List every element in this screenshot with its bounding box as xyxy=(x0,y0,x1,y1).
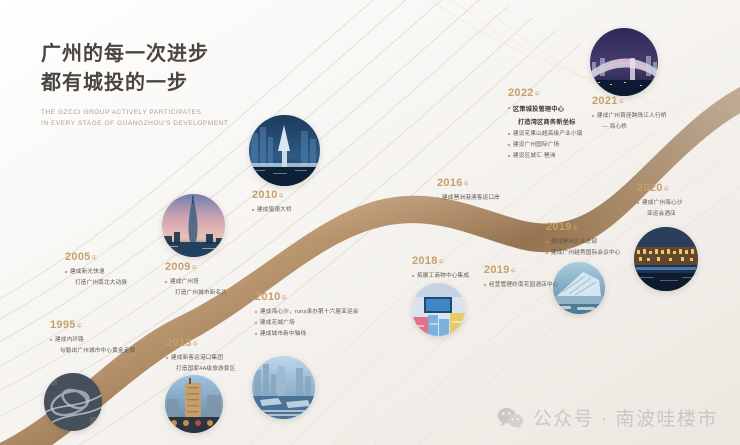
node-2019b-year: 2019年 xyxy=(546,222,621,233)
node-1995-bullets: 建成内环路 勾勒出广州城市中心黄金走廊 xyxy=(50,335,135,357)
node-2021[interactable]: 2021年 建成广州首座跨珠江人行桥 — 海心桥 xyxy=(592,96,667,133)
bullet: 建设花果山超高级产业小镇 xyxy=(508,129,583,140)
node-2010b-bullets: 建成海心沙，runs承办第十六届亚运会 建成花城广场 建成城市新中轴线 xyxy=(255,307,359,340)
bullet: 勾勒出广州城市中心黄金走廊 xyxy=(50,346,135,357)
photo-aerial-interchange[interactable] xyxy=(44,373,102,431)
node-2019b[interactable]: 2019年 建成琶洲企业总部 建成广州越秀国际会议中心 xyxy=(546,222,621,259)
bullet: 打造湾区商务新坐标 xyxy=(508,116,583,129)
headline-en-1: THE GZCCI GROUP ACTIVELY PARTICIPATES xyxy=(41,107,361,118)
bullet: — 海心桥 xyxy=(592,122,667,133)
node-2009-bullets: 建成广州塔 打造广州城市新名片 xyxy=(165,277,227,299)
node-2010-bullets: 建成猎德大桥 xyxy=(252,205,292,216)
node-2019[interactable]: 2019年 经营管理岭南花园酒店中心 xyxy=(484,265,559,291)
photo-haixin-bridge[interactable] xyxy=(590,28,658,96)
node-2021-bullets: 建成广州首座跨珠江人行桥 — 海心桥 xyxy=(592,111,667,133)
node-2010b-year: 2010年 xyxy=(255,292,359,303)
page-title: 广州的每一次进步 都有城投的一步 THE GZCCI GROUP ACTIVEL… xyxy=(41,40,361,130)
node-2005[interactable]: 2005年 建成新光快速 打造广州南北大动脉 xyxy=(65,252,127,289)
infographic-canvas: 广州的每一次进步 都有城投的一步 THE GZCCI GROUP ACTIVEL… xyxy=(0,0,740,445)
node-2013[interactable]: 2013年 建成新客运港口集团 打造国家4A级旅游景区 xyxy=(166,338,235,375)
bullet: 建设广州国际广场 xyxy=(508,140,583,151)
watermark-text: 公众号 · 南波哇楼市 xyxy=(533,404,718,431)
bullet: 建成广州海心沙 xyxy=(637,198,683,209)
headline-line-2: 都有城投的一步 xyxy=(41,69,361,98)
wechat-icon xyxy=(497,407,524,429)
bullet: 打造国家4A级旅游景区 xyxy=(166,364,235,375)
bullet: 区策城投管理中心 xyxy=(508,103,583,116)
bullet: 建设区城汇·琶洲 xyxy=(508,151,583,162)
node-2018-year: 2018年 xyxy=(412,256,469,267)
bullet: 建成花城广场 xyxy=(255,318,359,329)
node-1995[interactable]: 1995年 建成内环路 勾勒出广州城市中心黄金走廊 xyxy=(50,320,135,357)
bullet: 建成新客运港口集团 xyxy=(166,353,235,364)
node-2019-year: 2019年 xyxy=(484,265,559,276)
photo-haixinsha-night[interactable] xyxy=(634,227,698,291)
headline-line-1: 广州的每一次进步 xyxy=(41,40,361,69)
node-2021-year: 2021年 xyxy=(592,96,667,107)
bullet: 建成海心沙，runs承办第十六届亚运会 xyxy=(255,307,359,318)
photo-canton-tower-dusk[interactable] xyxy=(162,194,225,257)
node-2005-bullets: 建成新光快速 打造广州南北大动脉 xyxy=(65,267,127,289)
node-2018[interactable]: 2018年 拓展工商物中心集成 xyxy=(412,256,469,282)
photo-haixinsha-plaza[interactable] xyxy=(252,356,315,419)
node-2009[interactable]: 2009年 建成广州塔 打造广州城市新名片 xyxy=(165,262,227,299)
node-2016-year: 2016年 xyxy=(437,178,500,189)
bullet: 建成猎德大桥 xyxy=(252,205,292,216)
bullet: 建成琶洲企业总部 xyxy=(546,237,621,248)
bullet: 建成城市新中轴线 xyxy=(255,329,359,340)
bullet: 建成内环路 xyxy=(50,335,135,346)
node-2010[interactable]: 2010年 建成猎德大桥 xyxy=(252,190,292,216)
bullet: 建成广州首座跨珠江人行桥 xyxy=(592,111,667,122)
watermark: 公众号 · 南波哇楼市 xyxy=(497,404,718,431)
node-2019b-bullets: 建成琶洲企业总部 建成广州越秀国际会议中心 xyxy=(546,237,621,259)
node-2022[interactable]: 2022年 区策城投管理中心 打造湾区商务新坐标 建设花果山超高级产业小镇 建设… xyxy=(508,88,583,162)
node-2020-year: 2020年 xyxy=(637,183,683,194)
bullet: 建成新光快速 xyxy=(65,267,127,278)
bullet: 打造广州南北大动脉 xyxy=(65,278,127,289)
node-2020[interactable]: 2020年 建成广州海心沙 亚运会酒店 xyxy=(637,183,683,220)
node-2020-bullets: 建成广州海心沙 亚运会酒店 xyxy=(637,198,683,220)
node-2016-bullets: 建成琶洲港澳客运口岸 xyxy=(437,193,500,204)
bullet: 经营管理岭南花园酒店中心 xyxy=(484,280,559,291)
node-2019-bullets: 经营管理岭南花园酒店中心 xyxy=(484,280,559,291)
photo-port-tower[interactable] xyxy=(165,375,223,433)
node-2010b[interactable]: 2010年 建成海心沙，runs承办第十六届亚运会 建成花城广场 建成城市新中轴… xyxy=(255,292,359,340)
bullet: 建成广州越秀国际会议中心 xyxy=(546,248,621,259)
node-2018-bullets: 拓展工商物中心集成 xyxy=(412,271,469,282)
node-2022-year: 2022年 xyxy=(508,88,583,99)
photo-expo-interior[interactable] xyxy=(412,283,465,336)
node-2016[interactable]: 2016年 建成琶洲港澳客运口岸 xyxy=(437,178,500,204)
bullet: 亚运会酒店 xyxy=(637,209,683,220)
headline-en-2: IN EVERY STAGE OF GUANGZHOU'S DEVELOPMEN… xyxy=(41,118,361,129)
bullet: 拓展工商物中心集成 xyxy=(412,271,469,282)
node-2013-year: 2013年 xyxy=(166,338,235,349)
node-2022-bullets: 区策城投管理中心 打造湾区商务新坐标 建设花果山超高级产业小镇 建设广州国际广场… xyxy=(508,103,583,162)
node-2005-year: 2005年 xyxy=(65,252,127,263)
photo-convention-center[interactable] xyxy=(553,262,605,314)
node-2010-year: 2010年 xyxy=(252,190,292,201)
bullet: 建成琶洲港澳客运口岸 xyxy=(437,193,500,204)
bullet: 打造广州城市新名片 xyxy=(165,288,227,299)
node-2009-year: 2009年 xyxy=(165,262,227,273)
photo-liede-bridge[interactable] xyxy=(249,115,320,186)
node-2013-bullets: 建成新客运港口集团 打造国家4A级旅游景区 xyxy=(166,353,235,375)
bullet: 建成广州塔 xyxy=(165,277,227,288)
node-1995-year: 1995年 xyxy=(50,320,135,331)
